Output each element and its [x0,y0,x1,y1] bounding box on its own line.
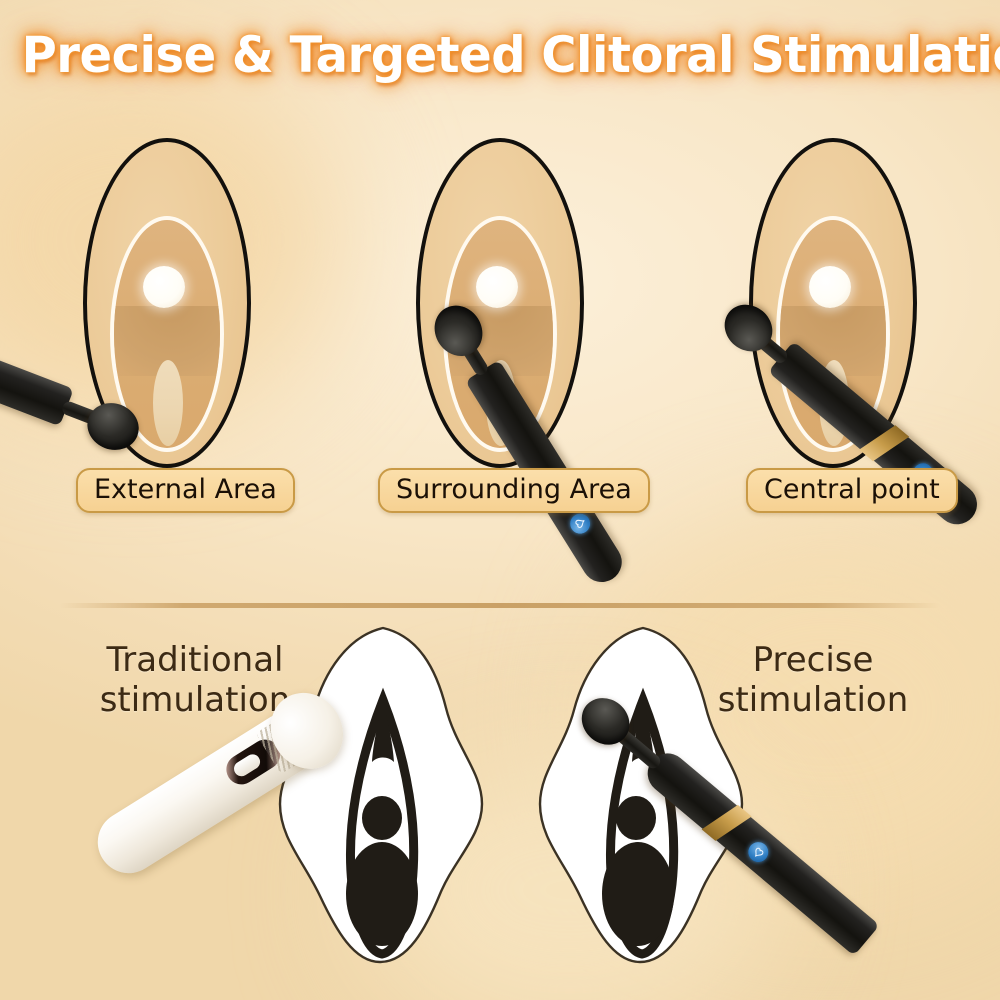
central-point-highlight [143,266,185,308]
lineart-diagram-traditional [268,622,498,967]
label-external-area: External Area [76,468,295,513]
section-divider [60,603,940,608]
page-title: Precise & Targeted Clitoral Stimulation [22,30,1000,80]
label-text: Surrounding Area [396,474,632,505]
panel-surrounding-area: Surrounding Area [333,120,666,540]
central-point-highlight [809,266,851,308]
top-comparison-row: External Area [0,120,1000,540]
vaginal-opening [602,842,674,946]
panel-external-area: External Area [0,120,333,540]
urethral-dot [616,796,656,840]
bottom-comparison-row: Traditional stimulation Precise stimulat… [0,612,1000,1000]
vaginal-opening [346,842,418,946]
central-point-highlight [476,266,518,308]
lineart-svg [268,622,498,967]
label-text: External Area [94,474,277,505]
panel-central-point: Central point [666,120,999,540]
heart-power-icon [571,515,589,533]
label-central-point: Central point [746,468,958,513]
label-text: Central point [764,474,940,505]
heart-power-icon [749,843,767,861]
title-banner: Precise & Targeted Clitoral Stimulation [0,30,1000,80]
infographic-canvas: Precise & Targeted Clitoral Stimulation [0,0,1000,1000]
label-surrounding-area: Surrounding Area [378,468,650,513]
urethral-dot [362,796,402,840]
